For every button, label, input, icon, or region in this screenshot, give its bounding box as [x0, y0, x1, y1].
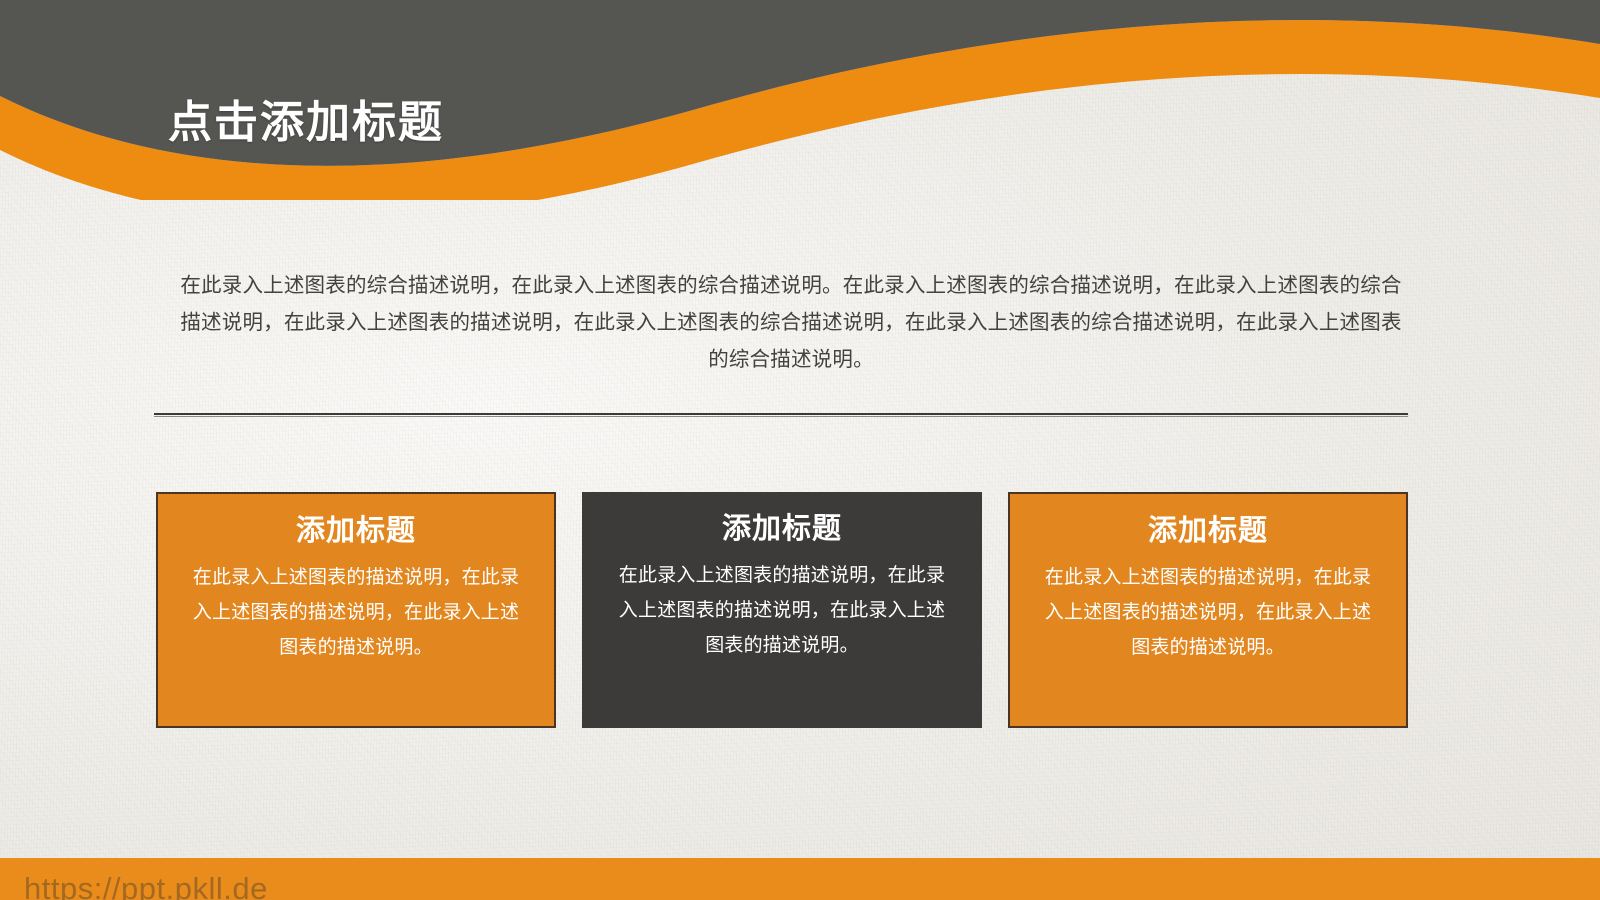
- page-title: 点击添加标题: [168, 101, 444, 145]
- content-card-1[interactable]: 添加标题 在此录入上述图表的描述说明，在此录入上述图表的描述说明，在此录入上述图…: [156, 492, 556, 728]
- slide-canvas: 点击添加标题 在此录入上述图表的综合描述说明，在此录入上述图表的综合描述说明。在…: [0, 0, 1600, 900]
- card-1-title: 添加标题: [188, 516, 524, 546]
- footer-bar: https://ppt.pkll.de: [0, 858, 1600, 900]
- intro-paragraph: 在此录入上述图表的综合描述说明，在此录入上述图表的综合描述说明。在此录入上述图表…: [174, 267, 1408, 378]
- section-divider: [154, 413, 1408, 417]
- watermark-url: https://ppt.pkll.de: [24, 873, 268, 900]
- card-2-body: 在此录入上述图表的描述说明，在此录入上述图表的描述说明，在此录入上述图表的描述说…: [612, 558, 952, 663]
- card-3-body: 在此录入上述图表的描述说明，在此录入上述图表的描述说明，在此录入上述图表的描述说…: [1040, 560, 1376, 665]
- card-3-title: 添加标题: [1040, 516, 1376, 546]
- card-1-body: 在此录入上述图表的描述说明，在此录入上述图表的描述说明，在此录入上述图表的描述说…: [188, 560, 524, 665]
- divider-rule-thin: [154, 416, 1408, 417]
- card-2-title: 添加标题: [612, 514, 952, 544]
- content-cards-row: 添加标题 在此录入上述图表的描述说明，在此录入上述图表的描述说明，在此录入上述图…: [156, 492, 1408, 728]
- content-card-2[interactable]: 添加标题 在此录入上述图表的描述说明，在此录入上述图表的描述说明，在此录入上述图…: [582, 492, 982, 728]
- divider-rule-thick: [154, 413, 1408, 415]
- content-card-3[interactable]: 添加标题 在此录入上述图表的描述说明，在此录入上述图表的描述说明，在此录入上述图…: [1008, 492, 1408, 728]
